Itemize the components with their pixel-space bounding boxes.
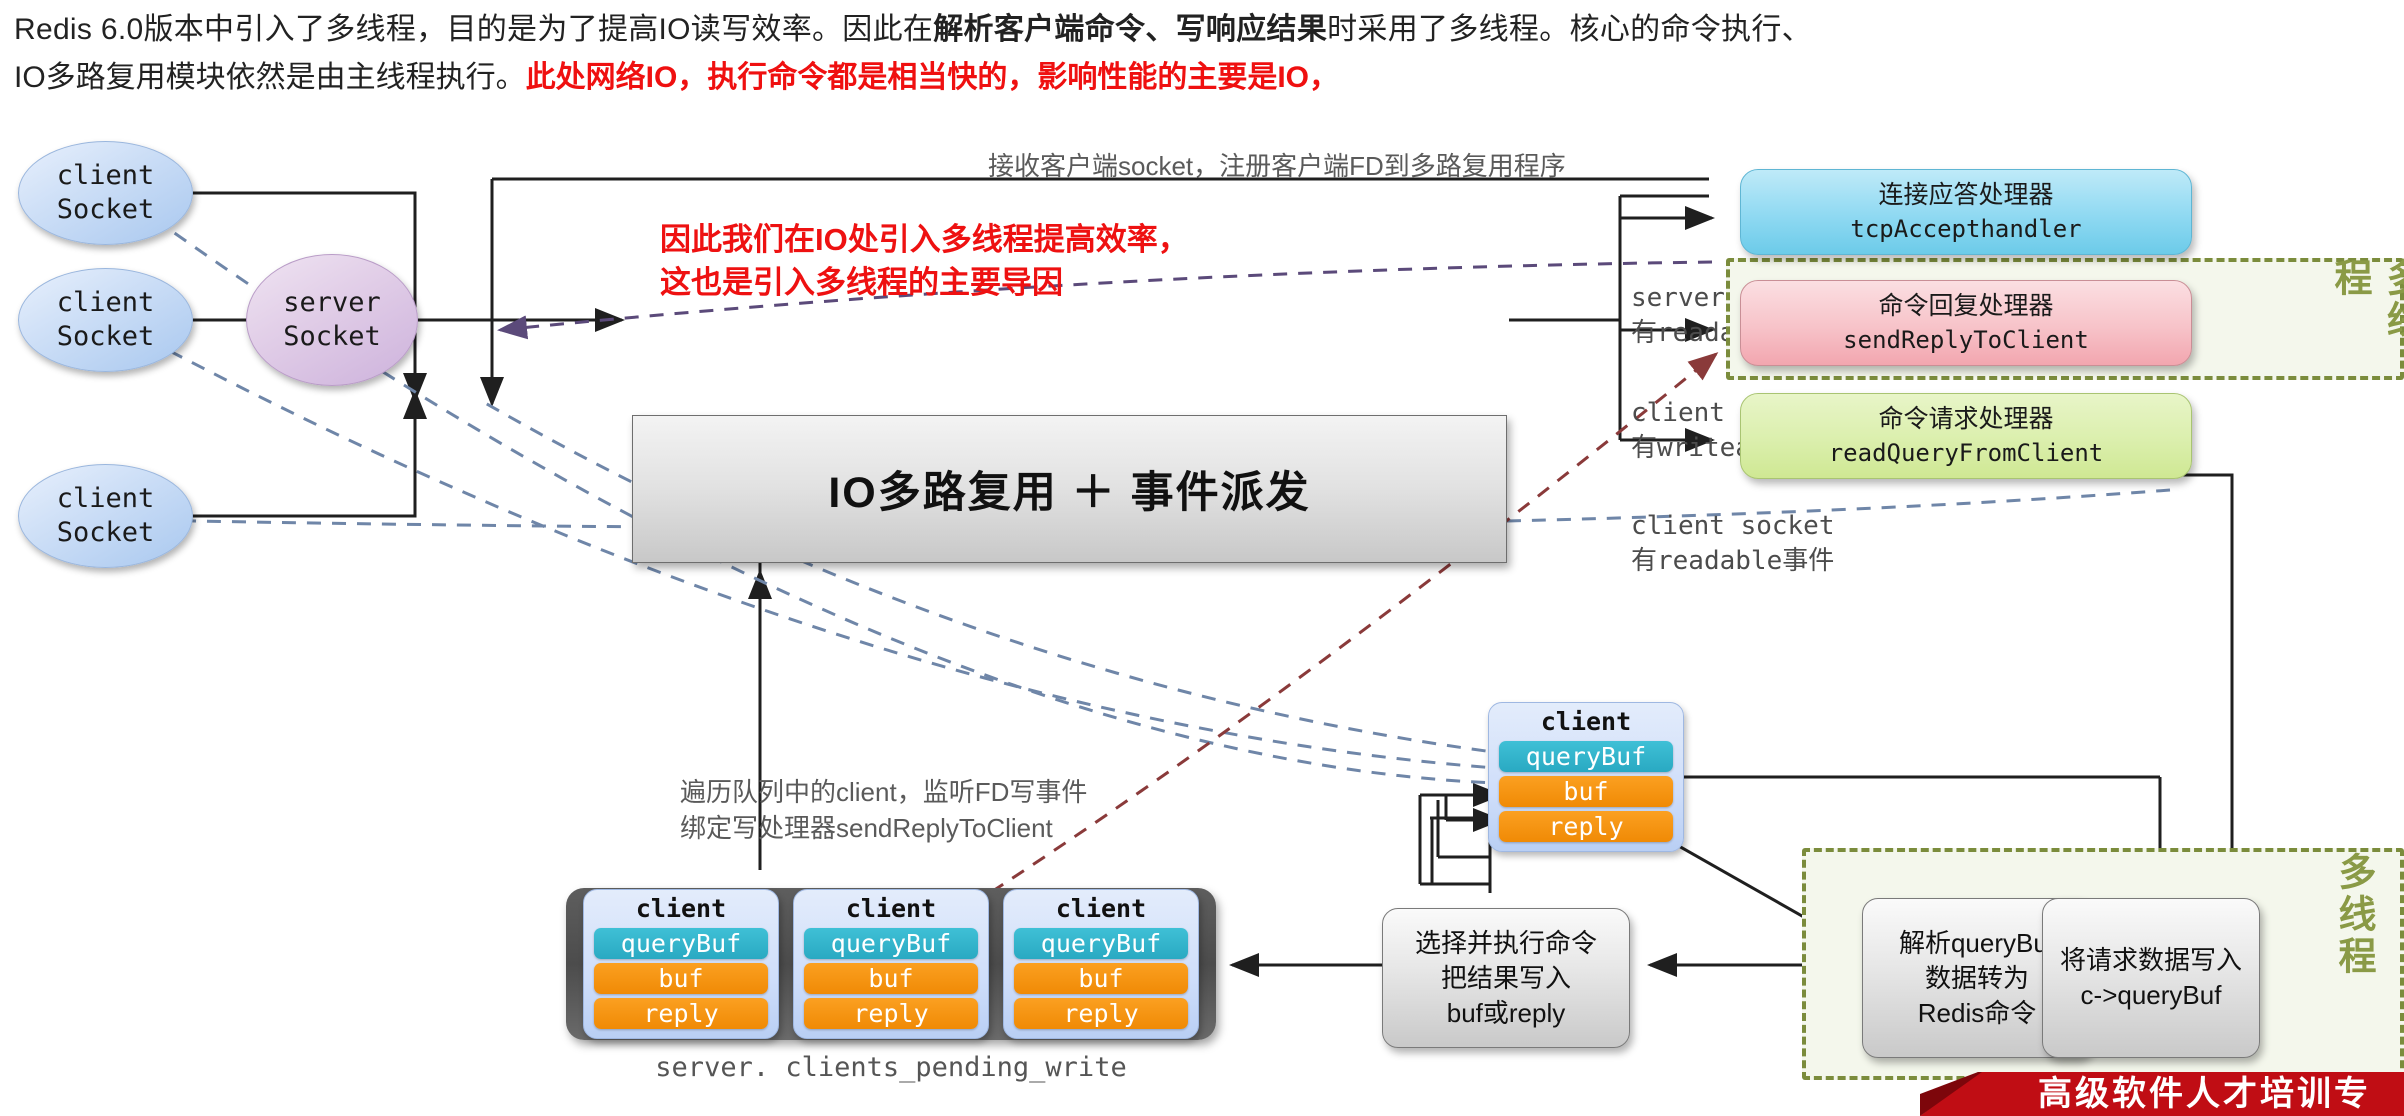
edge-label-client-readable-2: 有readable事件 bbox=[1631, 544, 1834, 579]
handler-cn-label: 命令请求处理器 bbox=[1878, 402, 2053, 436]
client-socket-label-line2: Socket bbox=[57, 193, 155, 227]
client-struct-title: client bbox=[594, 894, 768, 924]
pending-client-card-1[interactable]: client queryBuf buf reply bbox=[583, 889, 779, 1039]
pending-write-caption: server. clients_pending_write bbox=[566, 1052, 1216, 1083]
exec-line-3: buf或reply bbox=[1447, 996, 1566, 1031]
client-field-querybuf: queryBuf bbox=[594, 928, 768, 959]
client-field-buf: buf bbox=[804, 963, 978, 994]
client-socket-label-line1: client bbox=[57, 482, 155, 516]
diagram-canvas: Redis 6.0版本中引入了多线程，目的是为了提高IO读写效率。因此在解析客户… bbox=[0, 0, 2404, 1116]
header-paragraph-line2: IO多路复用模块依然是由主线程执行。此处网络IO，执行命令都是相当快的，影响性能… bbox=[14, 52, 1339, 104]
handler-tcp-accept[interactable]: 连接应答处理器 tcpAccepthandler bbox=[1740, 169, 2192, 255]
header-line2-text: IO多路复用模块依然是由主线程执行。 bbox=[14, 61, 526, 94]
client-field-querybuf: queryBuf bbox=[1499, 741, 1673, 772]
exec-line-2: 把结果写入 bbox=[1441, 961, 1571, 996]
client-socket-label-line1: client bbox=[57, 159, 155, 193]
pending-client-card-3[interactable]: client queryBuf buf reply bbox=[1003, 889, 1199, 1039]
multithread-label-parse: 多线程 bbox=[2327, 852, 2379, 1078]
client-field-reply: reply bbox=[804, 998, 978, 1029]
client-socket-label-line2: Socket bbox=[57, 320, 155, 354]
client-socket-node-1[interactable]: client Socket bbox=[18, 141, 193, 245]
accept-note-label: 接收客户端socket，注册客户端FD到多路复用程序 bbox=[988, 148, 1566, 184]
client-field-querybuf: queryBuf bbox=[1014, 928, 1188, 959]
client-field-reply: reply bbox=[1499, 811, 1673, 842]
client-field-reply: reply bbox=[1014, 998, 1188, 1029]
pending-note-line1: 遍历队列中的client，监听FD写事件 bbox=[680, 774, 1087, 810]
red-annotation-line1: 因此我们在IO处引入多线程提高效率， bbox=[660, 218, 1189, 261]
client-field-buf: buf bbox=[1499, 776, 1673, 807]
client-struct-title: client bbox=[1499, 707, 1673, 737]
header-text-c: 时采用了多线程。核心的命令执行、 bbox=[1327, 13, 1812, 46]
exec-line-1: 选择并执行命令 bbox=[1415, 926, 1597, 961]
handler-send-reply[interactable]: 命令回复处理器 sendReplyToClient bbox=[1740, 280, 2192, 366]
clients-pending-write-container[interactable]: client queryBuf buf reply client queryBu… bbox=[566, 888, 1216, 1040]
client-struct-card[interactable]: client queryBuf buf reply bbox=[1488, 702, 1684, 852]
client-field-buf: buf bbox=[1014, 963, 1188, 994]
red-annotation-line2: 这也是引入多线程的主要导因 bbox=[660, 261, 1063, 304]
process-exec-command[interactable]: 选择并执行命令 把结果写入 buf或reply bbox=[1382, 908, 1630, 1048]
client-struct-title: client bbox=[1014, 894, 1188, 924]
parse-line-1: 解析queryBuf bbox=[1899, 926, 2055, 961]
client-socket-node-3[interactable]: client Socket bbox=[18, 464, 193, 568]
header-line2-annotation: 此处网络IO，执行命令都是相当快的，影响性能的主要是IO， bbox=[526, 61, 1339, 94]
header-text-bold: 解析客户端命令、写响应结果 bbox=[933, 13, 1327, 46]
pending-client-card-2[interactable]: client queryBuf buf reply bbox=[793, 889, 989, 1039]
server-socket-label-line2: Socket bbox=[283, 320, 381, 354]
header-text-a: Redis 6.0版本中引入了多线程，目的是为了提高IO读写效率。因此在 bbox=[14, 13, 933, 46]
handler-fn-label: readQueryFromClient bbox=[1829, 436, 2104, 470]
parse-line-2: 数据转为 bbox=[1925, 961, 2029, 996]
client-field-querybuf: queryBuf bbox=[804, 928, 978, 959]
parse-line-3: Redis命令 bbox=[1918, 996, 2036, 1031]
server-socket-label-line1: server bbox=[283, 286, 381, 320]
client-socket-label-line2: Socket bbox=[57, 516, 155, 550]
client-struct-title: client bbox=[804, 894, 978, 924]
multithread-label-reply: 多线程 bbox=[2323, 258, 2404, 380]
write-line-1: 将请求数据写入 bbox=[2060, 943, 2242, 978]
handler-cn-label: 命令回复处理器 bbox=[1878, 289, 2053, 323]
io-multiplex-box[interactable]: IO多路复用 ＋ 事件派发 bbox=[632, 415, 1507, 563]
edge-label-client-readable-1: client socket bbox=[1631, 509, 1835, 544]
handler-read-query[interactable]: 命令请求处理器 readQueryFromClient bbox=[1740, 393, 2192, 479]
client-field-reply: reply bbox=[594, 998, 768, 1029]
handler-cn-label: 连接应答处理器 bbox=[1878, 178, 2053, 212]
client-socket-node-2[interactable]: client Socket bbox=[18, 268, 193, 372]
write-line-2: c->queryBuf bbox=[2081, 978, 2222, 1013]
client-field-buf: buf bbox=[594, 963, 768, 994]
process-write-querybuf[interactable]: 将请求数据写入 c->queryBuf bbox=[2042, 898, 2260, 1058]
banner-text: 高级软件人才培训专 bbox=[2038, 1074, 2371, 1116]
handler-fn-label: tcpAccepthandler bbox=[1850, 212, 2081, 246]
handler-fn-label: sendReplyToClient bbox=[1843, 323, 2089, 357]
pending-note-line2: 绑定写处理器sendReplyToClient bbox=[680, 810, 1053, 846]
header-paragraph-line1: Redis 6.0版本中引入了多线程，目的是为了提高IO读写效率。因此在解析客户… bbox=[14, 4, 2394, 56]
client-socket-label-line1: client bbox=[57, 286, 155, 320]
server-socket-node[interactable]: server Socket bbox=[246, 254, 418, 386]
bottom-red-banner: 高级软件人才培训专 bbox=[1920, 1072, 2404, 1116]
